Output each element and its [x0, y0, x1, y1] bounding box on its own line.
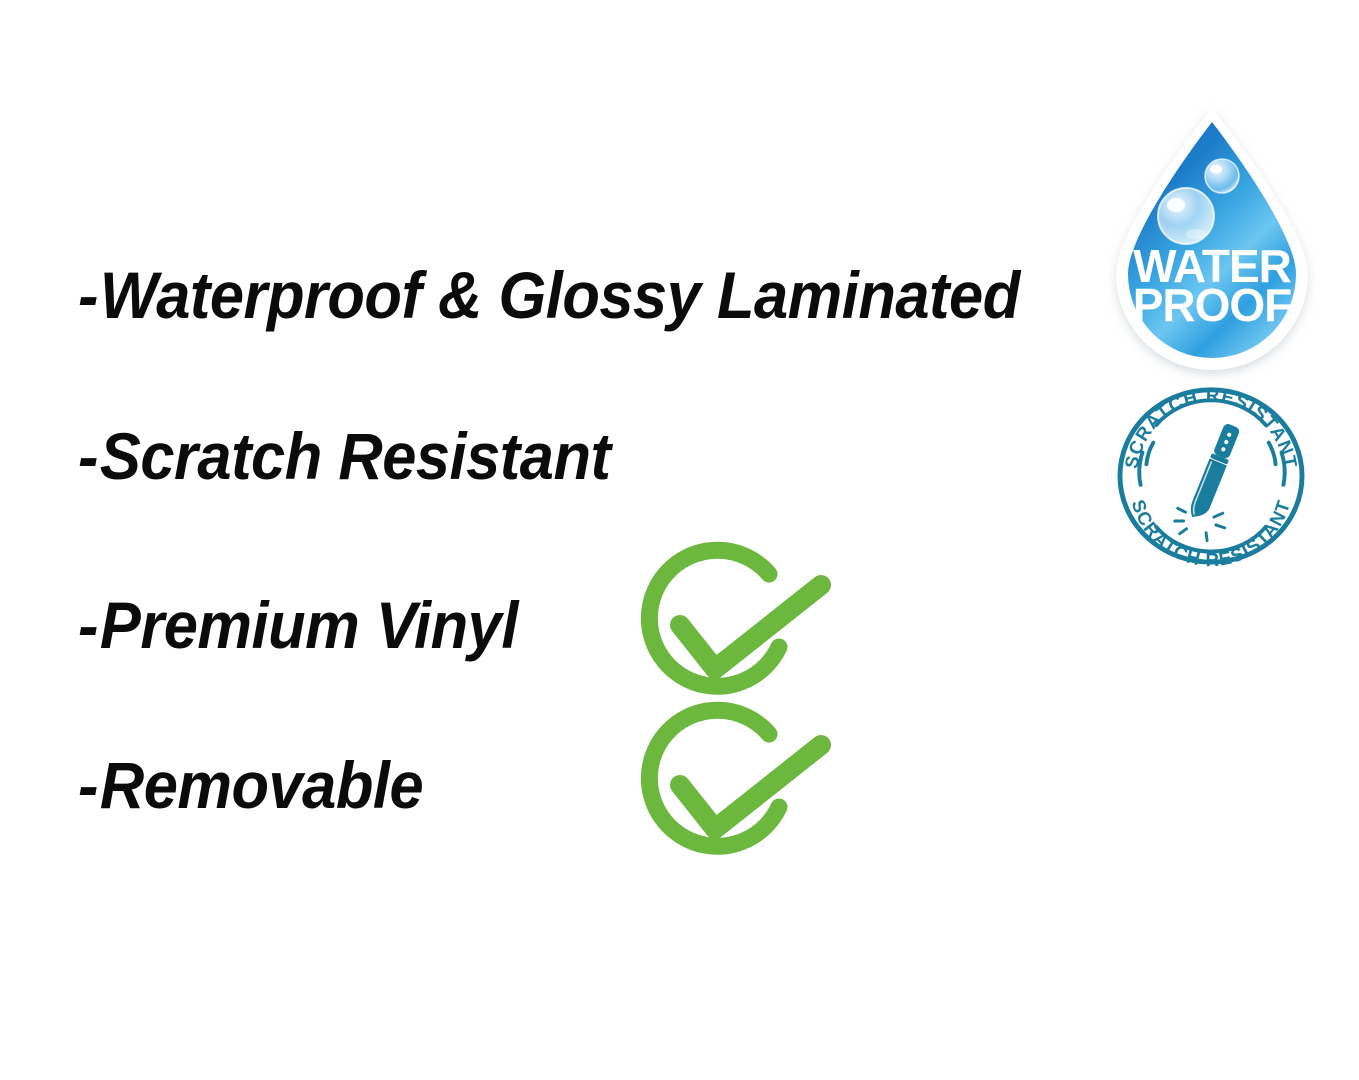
- feature-item-removable: -Removable: [78, 752, 423, 818]
- feature-item-waterproof-glossy-laminated: -Waterproof & Glossy Laminated: [78, 262, 1020, 328]
- badge-bottom-text: SCRATCH RESISTANT: [1128, 497, 1295, 570]
- knife-icon: [1187, 422, 1242, 522]
- water-bubble-small-icon: [1205, 159, 1239, 193]
- feature-label: Premium Vinyl: [100, 588, 518, 662]
- waterproof-label-line2: PROOF: [1133, 279, 1292, 331]
- check-mark-stroke: [680, 745, 821, 829]
- feature-bullet-dash: -: [78, 592, 98, 658]
- waterproof-badge: WATER PROOF: [1104, 104, 1320, 366]
- feature-bullet-dash: -: [78, 262, 98, 328]
- feature-item-premium-vinyl: -Premium Vinyl: [78, 592, 518, 658]
- feature-label: Waterproof & Glossy Laminated: [100, 258, 1020, 332]
- feature-bullet-dash: -: [78, 752, 98, 818]
- check-mark-stroke: [680, 585, 821, 669]
- water-bubble-large-icon: [1158, 188, 1214, 244]
- feature-list-graphic: -Waterproof & Glossy Laminated -Scratch …: [0, 0, 1359, 1080]
- green-check-circle-icon: [639, 712, 839, 872]
- feature-label: Removable: [100, 748, 423, 822]
- feature-label: Scratch Resistant: [100, 419, 611, 493]
- scratch-resistant-badge: SCRATCH RESISTANT SCRATCH RESISTANT: [1112, 382, 1310, 568]
- feature-bullet-dash: -: [78, 423, 98, 489]
- green-check-circle-icon: [639, 552, 839, 712]
- feature-item-scratch-resistant: -Scratch Resistant: [78, 423, 610, 489]
